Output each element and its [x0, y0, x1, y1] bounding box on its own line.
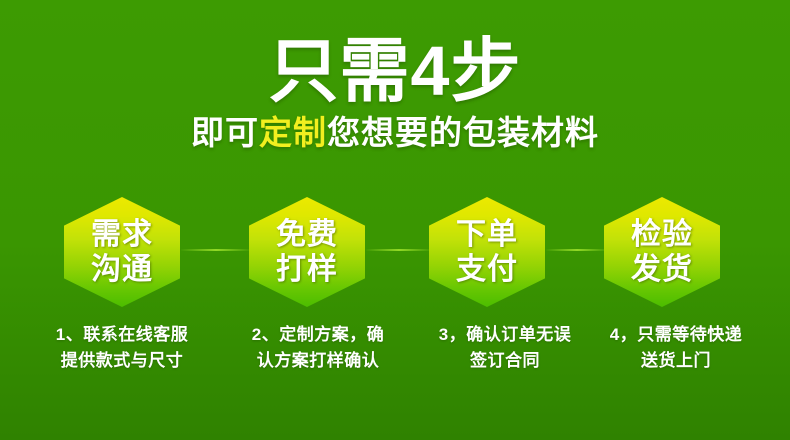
- hex-label-line1: 需求: [91, 217, 153, 252]
- step-hexagon-label-4: 检验 发货: [604, 197, 720, 307]
- step-caption-1: 1、联系在线客服 提供款式与尺寸: [17, 322, 227, 374]
- caption-line1: 2、定制方案，确: [252, 325, 384, 344]
- hex-label-line2: 发货: [631, 252, 693, 287]
- caption-line1: 4，只需等待快递: [610, 325, 742, 344]
- caption-line2: 提供款式与尺寸: [17, 348, 227, 374]
- step-hexagon-label-1: 需求 沟通: [64, 197, 180, 307]
- subtitle-highlight: 定制: [259, 114, 327, 151]
- page-title: 只需4步: [0, 34, 790, 108]
- subtitle-suffix: 您想要的包装材料: [327, 114, 599, 151]
- step-connector-line-2: [366, 249, 432, 251]
- step-hexagon-label-2: 免费 打样: [249, 197, 365, 307]
- step-connector-line-3: [546, 249, 608, 251]
- step-caption-4: 4，只需等待快递 送货上门: [571, 322, 781, 374]
- hex-label-line1: 免费: [276, 217, 338, 252]
- step-hexagon-1: 需求 沟通: [64, 197, 180, 307]
- hex-label-line2: 支付: [456, 252, 518, 287]
- hex-label-line1: 检验: [631, 217, 693, 252]
- step-caption-2: 2、定制方案，确 认方案打样确认: [213, 322, 423, 374]
- step-connector-line-1: [181, 249, 251, 251]
- caption-line2: 送货上门: [571, 348, 781, 374]
- caption-line2: 认方案打样确认: [213, 348, 423, 374]
- promo-banner: 只需4步 即可定制您想要的包装材料 需求 沟通 免费 打样 下单 支付 检验 发…: [0, 0, 790, 440]
- page-subtitle: 即可定制您想要的包装材料: [0, 114, 790, 152]
- headline-block: 只需4步 即可定制您想要的包装材料: [0, 34, 790, 152]
- step-hexagon-3: 下单 支付: [429, 197, 545, 307]
- caption-line1: 1、联系在线客服: [56, 325, 188, 344]
- caption-line1: 3，确认订单无误: [439, 325, 571, 344]
- step-hexagon-4: 检验 发货: [604, 197, 720, 307]
- subtitle-prefix: 即可: [191, 114, 259, 151]
- hex-label-line1: 下单: [456, 217, 518, 252]
- hex-label-line2: 沟通: [91, 252, 153, 287]
- hex-label-line2: 打样: [276, 252, 338, 287]
- step-hexagon-label-3: 下单 支付: [429, 197, 545, 307]
- step-hexagon-2: 免费 打样: [249, 197, 365, 307]
